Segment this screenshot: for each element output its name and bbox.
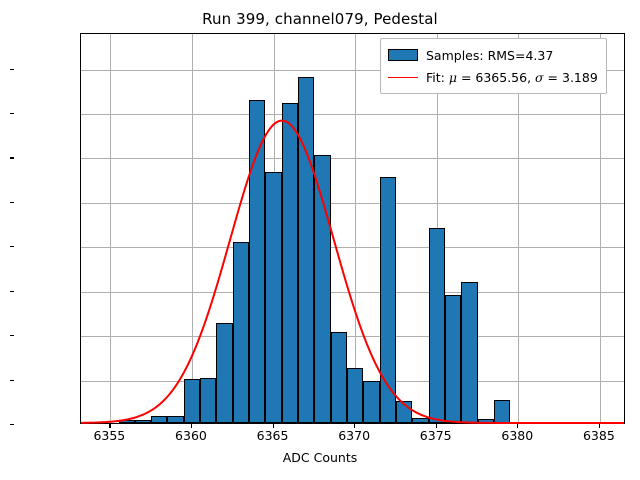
legend-fit-sigma-value: = 3.189 <box>544 70 598 85</box>
y-tick-mark <box>10 335 14 336</box>
y-tick-mark <box>10 246 14 247</box>
legend-swatch-fit-icon <box>388 77 418 78</box>
legend-fit-sigma-symbol: σ <box>535 70 544 85</box>
y-tick-mark <box>10 157 14 158</box>
x-tick-label: 6360 <box>156 428 226 443</box>
y-tick-mark <box>10 291 14 292</box>
legend-label-samples: Samples: RMS=4.37 <box>426 48 553 63</box>
legend-entry-fit[interactable]: Fit: μ = 6365.56, σ = 3.189 <box>388 66 598 88</box>
x-tick-label: 6375 <box>401 428 471 443</box>
chart-title: Run 399, channel079, Pedestal <box>0 10 640 28</box>
y-tick-mark <box>10 69 14 70</box>
legend-label-fit: Fit: μ = 6365.56, σ = 3.189 <box>426 70 598 85</box>
chart-legend[interactable]: Samples: RMS=4.37 Fit: μ = 6365.56, σ = … <box>380 38 607 94</box>
x-tick-label: 6380 <box>482 428 552 443</box>
legend-fit-mu-value: = 6365.56, <box>457 70 535 85</box>
x-tick-label: 6355 <box>74 428 144 443</box>
legend-entry-samples[interactable]: Samples: RMS=4.37 <box>388 44 598 66</box>
legend-fit-prefix: Fit: <box>426 70 449 85</box>
x-tick-label: 6365 <box>238 428 308 443</box>
legend-fit-mu-symbol: μ <box>449 70 457 85</box>
x-axis-label: ADC Counts <box>0 450 640 465</box>
y-tick-mark <box>10 424 14 425</box>
figure-canvas: Run 399, channel079, Pedestal 0500100015… <box>0 0 640 480</box>
y-tick-mark <box>10 113 14 114</box>
y-tick-mark <box>10 380 14 381</box>
y-tick-mark <box>10 202 14 203</box>
x-tick-label: 6370 <box>319 428 389 443</box>
legend-swatch-samples-icon <box>388 49 418 61</box>
x-tick-label: 6385 <box>564 428 634 443</box>
